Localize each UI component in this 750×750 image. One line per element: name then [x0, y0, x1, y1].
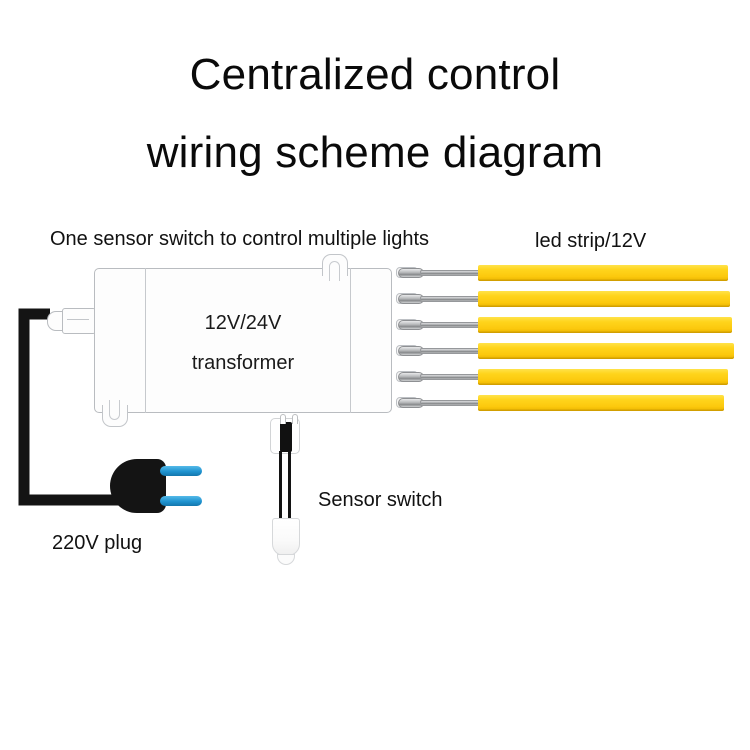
- transformer-mount-tab-bottom: [102, 405, 128, 427]
- grommet-barrel: [62, 308, 96, 334]
- sensor-prong-right: [292, 414, 298, 424]
- led-strip-body: [478, 343, 734, 359]
- led-strip-body: [478, 291, 730, 307]
- label-sensor-switch: Sensor switch: [318, 489, 443, 512]
- transformer-seam-right: [350, 268, 351, 413]
- led-strip-row: [398, 317, 732, 333]
- transformer-mount-tab-top: [322, 254, 348, 276]
- grommet-detail-line: [67, 319, 89, 320]
- label-one-sensor-multiple-lights: One sensor switch to control multiple li…: [50, 228, 429, 251]
- led-strip-lead-shaft: [420, 374, 482, 380]
- led-strip-body: [478, 265, 728, 281]
- led-strip-lead-shaft: [420, 348, 482, 354]
- page-title-line-2: wiring scheme diagram: [0, 128, 750, 178]
- led-strip-lead-shaft: [420, 322, 482, 328]
- sensor-switch-component: [264, 418, 310, 566]
- led-strip-lead-shaft: [420, 270, 482, 276]
- sensor-connector-core: [280, 422, 292, 452]
- label-220v-plug: 220V plug: [52, 532, 142, 555]
- sensor-prong-left: [280, 414, 286, 424]
- led-strip-row: [398, 291, 730, 307]
- led-strip-lead: [398, 398, 480, 408]
- led-strip-row: [398, 265, 728, 281]
- led-strip-lead: [398, 294, 480, 304]
- transformer-mount-tab-top-inner: [329, 261, 340, 281]
- led-strip-lead-shaft: [420, 400, 482, 406]
- cable-grommet: [47, 308, 95, 334]
- led-strip-body: [478, 317, 732, 333]
- led-strip-lead: [398, 268, 480, 278]
- plug-prong-bottom: [160, 496, 202, 506]
- sensor-connector-housing: [270, 418, 300, 454]
- led-strip-body: [478, 369, 728, 385]
- transformer-label-name: transformer: [94, 352, 392, 375]
- label-led-strip: led strip/12V: [535, 230, 646, 253]
- sensor-tip: [277, 554, 295, 565]
- page-title-line-1: Centralized control: [0, 50, 750, 100]
- transformer-unit: 12V/24V transformer: [94, 268, 392, 413]
- transformer-mount-tab-bottom-inner: [109, 400, 120, 420]
- power-plug: [110, 455, 202, 517]
- plug-prong-top: [160, 466, 202, 476]
- sensor-wire-left: [279, 451, 282, 523]
- transformer-label-voltage: 12V/24V: [94, 312, 392, 335]
- wiring-diagram-page: Centralized control wiring scheme diagra…: [0, 0, 750, 750]
- plug-body: [110, 459, 166, 513]
- led-strip-lead: [398, 372, 480, 382]
- led-strip-body: [478, 395, 724, 411]
- transformer-shell: [94, 268, 392, 413]
- led-strip-lead: [398, 346, 480, 356]
- led-strip-row: [398, 369, 728, 385]
- sensor-wire-right: [288, 451, 291, 523]
- led-strip-row: [398, 343, 734, 359]
- led-strip-lead: [398, 320, 480, 330]
- led-strip-row: [398, 395, 724, 411]
- led-strip-lead-shaft: [420, 296, 482, 302]
- sensor-body: [272, 518, 300, 556]
- transformer-seam-left: [145, 268, 146, 413]
